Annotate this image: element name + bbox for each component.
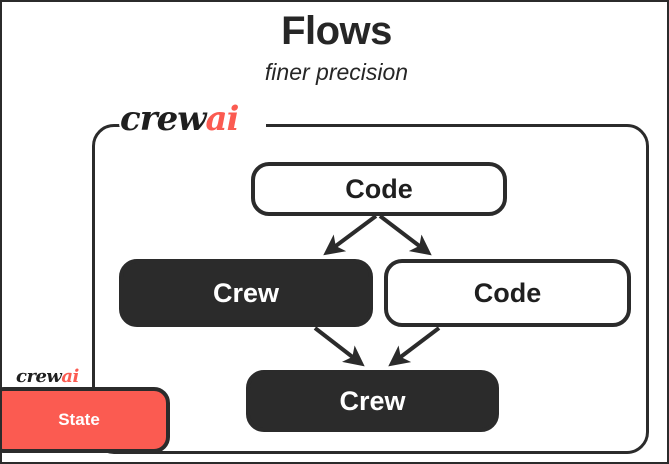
node-crew-mid[interactable]: Crew bbox=[119, 259, 373, 327]
crewai-logo-small: crewai bbox=[16, 368, 79, 386]
node-crew-bottom-label: Crew bbox=[339, 386, 405, 417]
crewai-logo-small-crew-text: crew bbox=[16, 366, 61, 387]
node-code-mid[interactable]: Code bbox=[384, 259, 631, 327]
node-state-label: State bbox=[58, 410, 100, 430]
node-crew-mid-label: Crew bbox=[213, 278, 279, 309]
page-subtitle: finer precision bbox=[2, 60, 669, 84]
crewai-logo: crewai bbox=[120, 102, 238, 136]
crewai-logo-small-ai-text: ai bbox=[61, 366, 79, 387]
node-code-top[interactable]: Code bbox=[251, 162, 507, 216]
crewai-logo-crew-text: crew bbox=[120, 99, 206, 139]
flows-diagram-canvas: Flows finer precision crewai Code Crew C… bbox=[0, 0, 669, 464]
node-code-mid-label: Code bbox=[474, 278, 542, 309]
node-code-top-label: Code bbox=[345, 174, 413, 205]
page-title: Flows bbox=[2, 10, 669, 52]
node-crew-bottom[interactable]: Crew bbox=[246, 370, 499, 432]
crewai-logo-ai-text: ai bbox=[206, 99, 239, 139]
node-state[interactable]: State bbox=[0, 387, 170, 453]
